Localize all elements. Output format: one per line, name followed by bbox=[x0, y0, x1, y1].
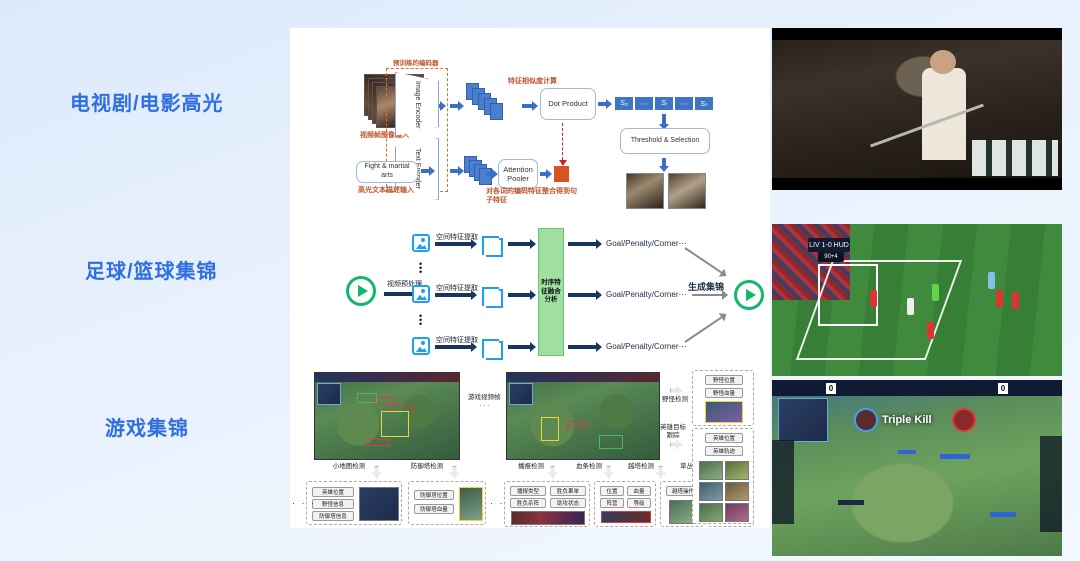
image-feature-stack bbox=[466, 83, 516, 131]
dot-product-block: Dot Product bbox=[540, 88, 596, 120]
caption-text-input: 高光文本描述输入 bbox=[358, 186, 414, 195]
minimap-thumb bbox=[359, 487, 399, 521]
event-label: Goal/Penalty/Corner⋯ bbox=[606, 239, 686, 248]
right-arrow-icon bbox=[670, 440, 682, 449]
category-label-game: 游戏集锦 bbox=[105, 412, 189, 441]
game-frames-dots: · · · bbox=[479, 402, 489, 409]
football-highlight-photo: LIV 1-0 HUD 90+4 bbox=[772, 224, 1062, 376]
tag-kill-streak: 胜负杀阵 bbox=[510, 498, 546, 508]
score-right: 0 bbox=[998, 383, 1008, 394]
score-cell: Sᵢ bbox=[654, 96, 674, 111]
label-monster-detect: 野怪检测 bbox=[662, 396, 688, 404]
score-cell: Sₙ bbox=[694, 96, 714, 111]
tag-tower-hp: 防御塔血量 bbox=[414, 504, 454, 514]
tower-thumb bbox=[459, 487, 483, 521]
highlight-output-play-icon bbox=[734, 280, 764, 310]
arrow-event3-to-output bbox=[685, 314, 726, 342]
slide-root: 电视剧/电影高光 足球/篮球集锦 游戏集锦 视频帧图像输入 预训练的编码器 Im… bbox=[0, 0, 1080, 561]
arrow-event1-to-output bbox=[685, 248, 726, 276]
tag-monster-hp: 野怪血量 bbox=[705, 388, 743, 398]
right-arrow-icon bbox=[670, 386, 682, 395]
detection-panel-minimap: 英雄位置 野怪信息 防御塔信息 bbox=[306, 481, 402, 525]
game-frame-b bbox=[506, 372, 660, 460]
detection-box bbox=[381, 411, 409, 437]
detection-panel-tower: 防御塔位置 防御塔血量 bbox=[408, 481, 486, 525]
game-frames-text: 游戏视频帧 bbox=[468, 394, 501, 401]
label-game-frames: 游戏视频帧 · · · bbox=[468, 394, 501, 411]
healthbar-thumb bbox=[601, 511, 651, 523]
score-cell: ⋯ bbox=[674, 96, 694, 111]
tag-hp: 血量 bbox=[627, 486, 651, 496]
broadcast-thumb bbox=[511, 511, 585, 525]
threshold-selection-block: Threshold & Selection bbox=[620, 128, 710, 154]
caption-pretrained-encoder: 预训练的编码器 bbox=[393, 60, 439, 69]
label-generate-highlight: 生成集锦 bbox=[688, 280, 724, 293]
game-frame-a bbox=[314, 372, 460, 460]
label-broadcast-detect: 播报检测 bbox=[514, 463, 548, 471]
text-prompt-box: Fight & martial arts bbox=[356, 161, 418, 183]
score-vector: S₀ ⋯ Sᵢ ⋯ Sₙ bbox=[614, 96, 714, 111]
hero-track-thumb bbox=[699, 461, 723, 480]
tag-hero-position: 英雄位置 bbox=[705, 433, 743, 443]
tag-hero-trajectory: 英雄轨迹 bbox=[705, 446, 743, 456]
detection-box bbox=[567, 421, 587, 428]
tag-monster-position: 野怪位置 bbox=[705, 375, 743, 385]
label-towerdive-detect: 越塔检测 bbox=[624, 463, 658, 471]
tag-faction: 阵营 bbox=[600, 498, 624, 508]
detection-panel-broadcast: 播报类型 胜负果单 胜负杀阵 助攻状态 bbox=[504, 481, 590, 527]
row-ellipsis: · · · bbox=[292, 498, 316, 508]
tag-level: 等级 bbox=[627, 498, 651, 508]
hero-track-thumb bbox=[699, 503, 723, 522]
sentence-feature-block bbox=[554, 166, 569, 182]
pipeline-clip-highlight: 视频帧图像输入 预训练的编码器 Image Encoder Text Encod… bbox=[290, 28, 770, 204]
monster-thumb bbox=[705, 401, 743, 423]
category-label-tv-movie: 电视剧/电影高光 bbox=[70, 87, 224, 116]
highlight-output-thumb bbox=[626, 173, 664, 209]
tag-hero-position: 英雄位置 bbox=[312, 487, 354, 497]
detection-box bbox=[599, 435, 623, 449]
sample-photo-column: LIV 1-0 HUD 90+4 0 0 Triple Kill bbox=[772, 28, 1062, 528]
pipeline-sports-highlight: 视频预处理 ••• ••• 空间特征提取 空间特征提取 空间特征提取 时序特征融… bbox=[290, 206, 770, 366]
spatial-frame-icon bbox=[412, 337, 430, 355]
tag-monster-info: 野怪信息 bbox=[312, 499, 354, 509]
score-cell: ⋯ bbox=[634, 96, 654, 111]
game-highlight-photo: 0 0 Triple Kill bbox=[772, 380, 1062, 556]
down-arrow-icon bbox=[548, 466, 557, 478]
pipeline-game-highlight: 游戏视频帧 · · · 小地图检测 防御塔检测 英雄位置 野怪信息 防御塔信息 … bbox=[290, 368, 770, 528]
down-arrow-icon bbox=[450, 466, 459, 478]
diagram-card: 视频帧图像输入 预训练的编码器 Image Encoder Text Encod… bbox=[290, 28, 770, 528]
tag-position: 位置 bbox=[600, 486, 624, 496]
label-minimap-detect: 小地图检测 bbox=[330, 463, 368, 471]
score-cell: S₀ bbox=[614, 96, 634, 111]
temporal-fusion-block: 时序特征融合分析 bbox=[538, 228, 564, 356]
caption-attention-pooler: 对各词的编码特征整合得到句子特征 bbox=[486, 187, 582, 206]
event-label: Goal/Penalty/Corner⋯ bbox=[606, 290, 686, 299]
score-left: 0 bbox=[826, 383, 836, 394]
movie-highlight-photo bbox=[772, 28, 1062, 190]
tag-tower-info: 防御塔信息 bbox=[312, 511, 354, 521]
feature-pages-icon bbox=[486, 341, 503, 360]
detection-box bbox=[541, 417, 559, 441]
kill-banner: Triple Kill bbox=[882, 414, 932, 426]
event-label: Goal/Penalty/Corner⋯ bbox=[606, 342, 686, 351]
detection-panel-hero-track: 英雄位置 英雄轨迹 bbox=[692, 428, 754, 524]
tag-broadcast-type: 播报类型 bbox=[510, 486, 546, 496]
hero-track-thumb bbox=[725, 482, 749, 501]
image-encoder-label: Image Encoder bbox=[414, 81, 421, 128]
spatial-frame-icon bbox=[412, 285, 430, 303]
similarity-link bbox=[562, 123, 563, 165]
hero-track-thumb bbox=[725, 503, 749, 522]
frames-ellipsis: ••• bbox=[419, 314, 422, 326]
frames-ellipsis: ••• bbox=[419, 262, 422, 274]
category-label-sports: 足球/篮球集锦 bbox=[85, 255, 218, 284]
tag-assist-state: 助攻状态 bbox=[550, 498, 586, 508]
hero-track-thumb bbox=[725, 461, 749, 480]
label-tower-detect: 防御塔检测 bbox=[408, 463, 446, 471]
detection-panel-healthbar: 位置 血量 阵营 等级 bbox=[594, 481, 656, 527]
spatial-frame-icon bbox=[412, 234, 430, 252]
feature-pages-icon bbox=[486, 289, 503, 308]
video-input-play-icon bbox=[346, 276, 376, 306]
label-hero-tracking: 英雄目标跟踪 bbox=[658, 424, 688, 441]
detection-box bbox=[367, 439, 389, 446]
label-healthbar-detect: 血条检测 bbox=[572, 463, 606, 471]
tag-result-list: 胜负果单 bbox=[550, 486, 586, 496]
feature-pages-icon bbox=[486, 238, 503, 257]
tag-tower-position: 防御塔位置 bbox=[414, 490, 454, 500]
detection-panel-monster: 野怪位置 野怪血量 bbox=[692, 370, 754, 426]
caption-similarity: 特征相似度计算 bbox=[508, 77, 557, 86]
down-arrow-icon bbox=[372, 466, 381, 478]
attention-pooler-block: Attention Pooler bbox=[498, 159, 538, 189]
highlight-output-thumb bbox=[668, 173, 706, 209]
match-clock: 90+4 bbox=[818, 252, 844, 262]
scoreboard: LIV 1-0 HUD bbox=[808, 238, 850, 252]
detection-box bbox=[357, 393, 377, 403]
hero-track-thumb bbox=[699, 482, 723, 501]
